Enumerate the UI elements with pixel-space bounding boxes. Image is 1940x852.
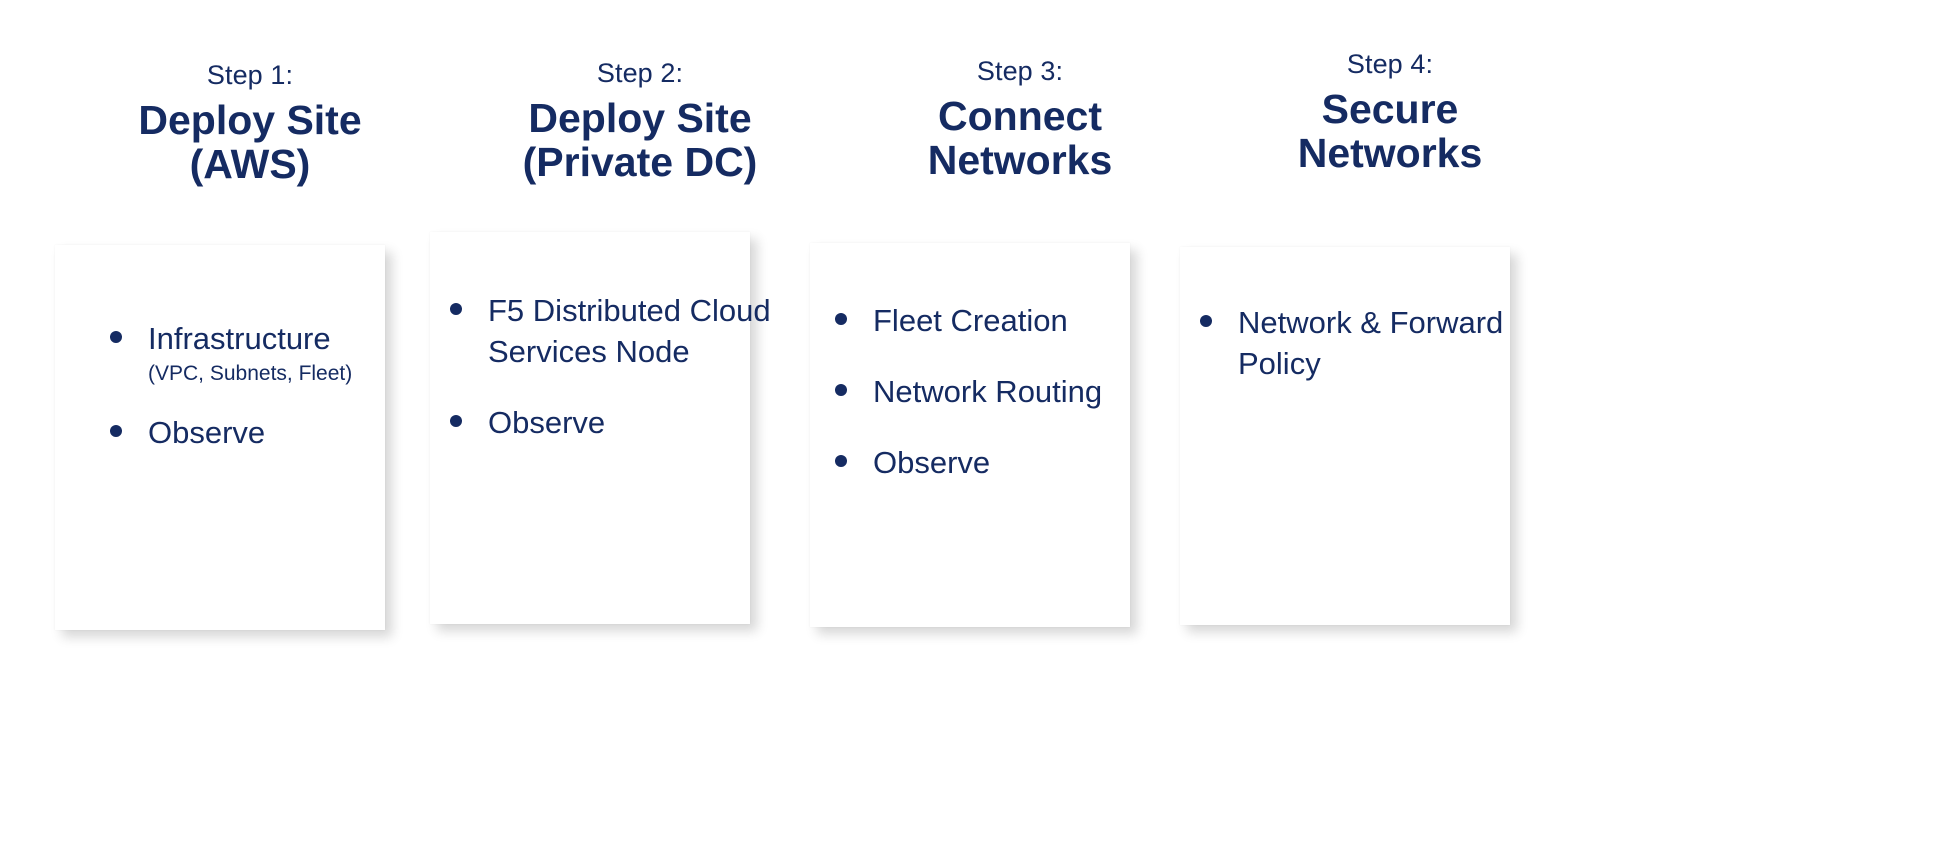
bullet-body: Fleet Creation xyxy=(873,300,1212,341)
list-item: Network Routing xyxy=(835,371,1212,412)
bullet-label: Infrastructure xyxy=(148,318,446,359)
list-item: Infrastructure (VPC, Subnets, Fleet) xyxy=(110,318,446,388)
bullet-dot-icon xyxy=(835,313,847,325)
bullet-dot-icon xyxy=(835,384,847,396)
bullet-label: Fleet Creation xyxy=(873,300,1212,341)
step-kicker-4: Step 4: xyxy=(1180,51,1600,78)
step-kicker-1: Step 1: xyxy=(40,62,460,89)
step-title-4: Secure Networks xyxy=(1180,87,1600,176)
bullet-dot-icon xyxy=(1200,315,1212,327)
bullet-dot-icon xyxy=(450,415,462,427)
bullet-body: Observe xyxy=(488,402,826,443)
step-heading-3: Step 3: Connect Networks xyxy=(810,58,1230,183)
step-bullet-list-2: F5 Distributed Cloud Services Node Obser… xyxy=(430,290,850,444)
bullet-body: Observe xyxy=(873,442,1212,483)
step-heading-2: Step 2: Deploy Site (Private DC) xyxy=(430,60,850,185)
step-bullet-list-1: Infrastructure (VPC, Subnets, Fleet) Obs… xyxy=(40,318,460,453)
bullet-dot-icon xyxy=(110,425,122,437)
list-item: Observe xyxy=(110,412,446,453)
bullet-dot-icon xyxy=(450,303,462,315)
bullet-body: Network & Forward Policy xyxy=(1238,302,1582,384)
bullet-dot-icon xyxy=(835,455,847,467)
step-column-1: Step 1: Deploy Site (AWS) Infrastructure… xyxy=(40,0,460,852)
step-heading-4: Step 4: Secure Networks xyxy=(1180,51,1600,176)
bullet-body: Observe xyxy=(148,412,446,453)
bullet-body: Network Routing xyxy=(873,371,1212,412)
step-bullet-list-4: Network & Forward Policy xyxy=(1180,302,1600,384)
step-title-1: Deploy Site (AWS) xyxy=(40,98,460,187)
list-item: F5 Distributed Cloud Services Node xyxy=(450,290,826,372)
list-item: Observe xyxy=(835,442,1212,483)
step-kicker-2: Step 2: xyxy=(430,60,850,87)
step-title-3: Connect Networks xyxy=(810,94,1230,183)
bullet-label: Observe xyxy=(488,402,826,443)
bullet-sublabel: (VPC, Subnets, Fleet) xyxy=(148,360,446,387)
step-column-3: Step 3: Connect Networks Fleet Creation … xyxy=(810,0,1230,852)
step-column-4: Step 4: Secure Networks Network & Forwar… xyxy=(1180,0,1600,852)
step-title-2: Deploy Site (Private DC) xyxy=(430,96,850,185)
bullet-label: Observe xyxy=(873,442,1212,483)
list-item: Fleet Creation xyxy=(835,300,1212,341)
step-heading-1: Step 1: Deploy Site (AWS) xyxy=(40,62,460,187)
bullet-body: Infrastructure (VPC, Subnets, Fleet) xyxy=(148,318,446,388)
steps-board: Step 1: Deploy Site (AWS) Infrastructure… xyxy=(0,0,1940,852)
list-item: Observe xyxy=(450,402,826,443)
bullet-label: Observe xyxy=(148,412,446,453)
bullet-dot-icon xyxy=(110,331,122,343)
bullet-label: F5 Distributed Cloud Services Node xyxy=(488,290,826,372)
bullet-body: F5 Distributed Cloud Services Node xyxy=(488,290,826,372)
list-item: Network & Forward Policy xyxy=(1200,302,1582,384)
bullet-label: Network & Forward Policy xyxy=(1238,302,1582,384)
bullet-label: Network Routing xyxy=(873,371,1212,412)
step-bullet-list-3: Fleet Creation Network Routing Observe xyxy=(810,300,1230,484)
step-kicker-3: Step 3: xyxy=(810,58,1230,85)
step-column-2: Step 2: Deploy Site (Private DC) F5 Dist… xyxy=(430,0,850,852)
